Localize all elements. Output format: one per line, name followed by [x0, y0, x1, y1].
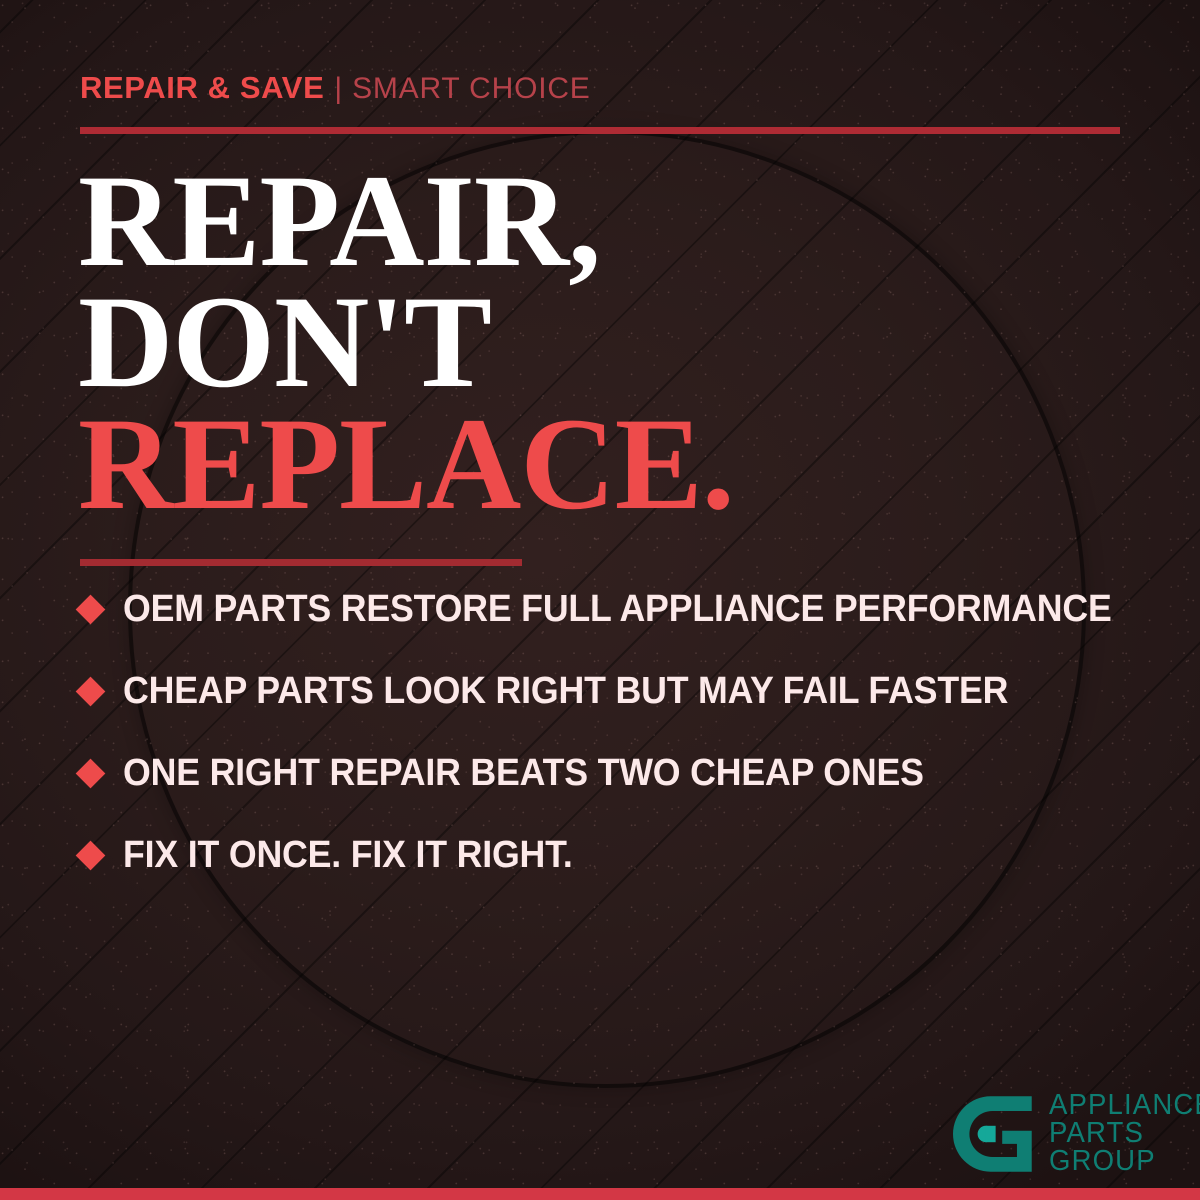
list-item: FIX IT ONCE. FIX IT RIGHT.	[80, 832, 1150, 878]
diamond-bullet-icon	[76, 676, 106, 706]
brand-logo-line-3: GROUP	[1049, 1148, 1200, 1176]
headline: REPAIR, DON'T REPLACE.	[78, 160, 734, 524]
brand-logo-text: APPLIANCE PARTS GROUP	[1049, 1092, 1200, 1175]
kicker-sub-label: | SMART CHOICE	[334, 72, 590, 105]
g-monogram-icon	[953, 1093, 1035, 1175]
headline-line-1: REPAIR,	[78, 160, 734, 281]
kicker: REPAIR & SAVE| SMART CHOICE	[80, 72, 591, 104]
list-item: CHEAP PARTS LOOK RIGHT BUT MAY FAIL FAST…	[80, 668, 1150, 714]
list-item-label: OEM PARTS RESTORE FULL APPLIANCE PERFORM…	[123, 588, 1112, 631]
brand-logo-line-2: PARTS	[1049, 1120, 1200, 1148]
list-item-label: CHEAP PARTS LOOK RIGHT BUT MAY FAIL FAST…	[123, 670, 1008, 713]
bullet-list: OEM PARTS RESTORE FULL APPLIANCE PERFORM…	[80, 586, 1150, 878]
diamond-bullet-icon	[76, 758, 106, 788]
brand-logo-line-1: APPLIANCE	[1049, 1092, 1200, 1120]
diamond-bullet-icon	[76, 840, 106, 870]
list-item-label: ONE RIGHT REPAIR BEATS TWO CHEAP ONES	[123, 752, 924, 795]
brand-logo: APPLIANCE PARTS GROUP	[953, 1092, 1200, 1175]
poster-canvas: REPAIR & SAVE| SMART CHOICE REPAIR, DON'…	[0, 0, 1200, 1200]
kicker-main-label: REPAIR & SAVE	[80, 70, 324, 105]
headline-line-2: DON'T	[78, 281, 734, 402]
poster-content: REPAIR & SAVE| SMART CHOICE REPAIR, DON'…	[0, 0, 1200, 1200]
headline-line-3: REPLACE.	[78, 403, 734, 524]
headline-divider-rule	[80, 559, 522, 566]
diamond-bullet-icon	[76, 594, 106, 624]
header-divider-rule	[80, 127, 1120, 134]
list-item-label: FIX IT ONCE. FIX IT RIGHT.	[123, 834, 573, 877]
list-item: ONE RIGHT REPAIR BEATS TWO CHEAP ONES	[80, 750, 1150, 796]
bottom-accent-bar	[0, 1188, 1200, 1200]
list-item: OEM PARTS RESTORE FULL APPLIANCE PERFORM…	[80, 586, 1150, 632]
